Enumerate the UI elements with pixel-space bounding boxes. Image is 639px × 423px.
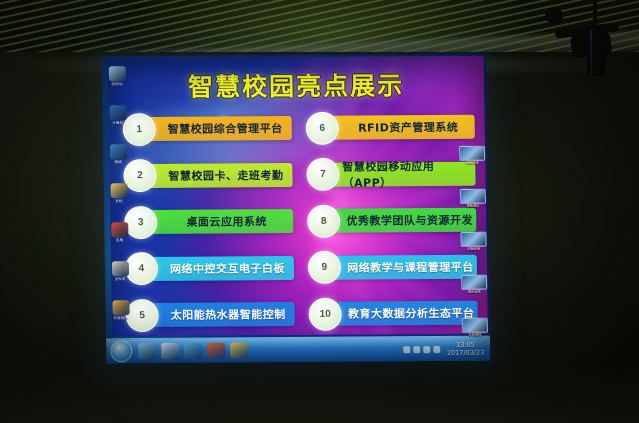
tray-icon[interactable] <box>413 346 420 353</box>
slide-item-row: 5太阳能热水器智能控制 <box>125 299 294 330</box>
tray-popup-4[interactable]: 提示信息 <box>461 275 487 295</box>
slide-item-label: 网络中控交互电子白板 <box>147 256 294 281</box>
slide-item-number: 6 <box>305 111 339 144</box>
slide-item-label: 智慧校园综合管理平台 <box>145 116 292 141</box>
desktop-icon-3-glyph <box>109 144 126 159</box>
slide-item-label: 智慧校园卡、走班考勤 <box>145 163 292 188</box>
slide-item-label: 太阳能热水器智能控制 <box>147 302 294 327</box>
tray-icon[interactable] <box>423 346 430 353</box>
slide-item-row: 10教育大数据分析生态平台 <box>308 298 477 329</box>
desktop-icon-5-label: 应用 <box>109 238 129 242</box>
system-tray[interactable]: 13:05 2017/03/23 <box>403 341 487 358</box>
desktop-icon-7-label: 安装程序 <box>111 316 131 320</box>
windows-taskbar[interactable]: 13:05 2017/03/23 <box>106 336 490 364</box>
tray-popup-3-glyph <box>460 232 486 247</box>
taskbar-chrome-icon[interactable] <box>207 342 225 358</box>
desktop-icon-2-label: 计算机 <box>108 121 128 125</box>
slide-item-label: 网络教学与课程管理平台 <box>330 254 477 279</box>
taskbar-ie-icon[interactable] <box>138 343 156 359</box>
tray-popup-5-label: 系统通知 <box>462 334 488 338</box>
projection-screen: 回收站计算机网络文档应用文件夹安装程序 智慧校园亮点展示 1智慧校园综合管理平台… <box>102 54 491 364</box>
clock-date: 2017/03/23 <box>447 349 485 357</box>
slide-item-row: 6RFID资产管理系统 <box>306 112 475 143</box>
desktop-icon-2-glyph <box>109 105 126 120</box>
slide-item-row: 4网络中控交互电子白板 <box>125 253 294 284</box>
slide-right-column: 6RFID资产管理系统7智慧校园移动应用（APP）8优秀教学团队与资源开发9网络… <box>306 112 478 329</box>
taskbar-folder-icon[interactable] <box>230 342 248 358</box>
slide-item-number: 7 <box>306 158 340 191</box>
tray-popup-2[interactable]: 更新提示 <box>460 189 486 209</box>
slide-left-column: 1智慧校园综合管理平台2智慧校园卡、走班考勤3桌面云应用系统4网络中控交互电子白… <box>122 113 294 330</box>
desktop-icon-5-glyph <box>111 222 128 237</box>
desktop-icon-column: 回收站计算机网络文档应用文件夹安装程序 <box>104 60 134 335</box>
slide-item-columns: 1智慧校园综合管理平台2智慧校园卡、走班考勤3桌面云应用系统4网络中控交互电子白… <box>122 112 477 330</box>
slide-item-label: RFID资产管理系统 <box>328 115 475 140</box>
taskbar-clock[interactable]: 13:05 2017/03/23 <box>447 341 485 357</box>
tray-popup-5[interactable]: 系统通知 <box>462 318 488 338</box>
slide-item-row: 1智慧校园综合管理平台 <box>122 113 291 144</box>
slide-item-number: 8 <box>307 204 341 237</box>
slide-item-row: 2智慧校园卡、走班考勤 <box>123 160 292 191</box>
desktop-icon-4-glyph <box>110 183 127 198</box>
tray-popup-2-label: 更新提示 <box>460 205 486 209</box>
slide-item-row: 3桌面云应用系统 <box>124 206 293 237</box>
slide-item-label: 智慧校园移动应用（APP） <box>328 161 475 186</box>
slide-item-row: 9网络教学与课程管理平台 <box>308 251 477 282</box>
tray-popup-4-label: 提示信息 <box>461 291 487 295</box>
tray-icon[interactable] <box>403 346 410 353</box>
desktop-icon-4[interactable]: 文档 <box>109 183 129 203</box>
powerpoint-slide: 智慧校园亮点展示 1智慧校园综合管理平台2智慧校园卡、走班考勤3桌面云应用系统4… <box>108 56 488 337</box>
start-button-icon[interactable] <box>110 340 132 362</box>
tray-volume-icon[interactable] <box>433 345 440 352</box>
room-scene: 回收站计算机网络文档应用文件夹安装程序 智慧校园亮点展示 1智慧校园综合管理平台… <box>0 0 639 423</box>
clock-time: 13:05 <box>447 341 485 349</box>
tray-popup-1-glyph <box>459 146 485 161</box>
desktop-icon-7-glyph <box>112 300 129 315</box>
tray-popup-2-glyph <box>460 189 486 204</box>
desktop-icon-1[interactable]: 回收站 <box>107 66 127 86</box>
slide-item-number: 9 <box>308 251 342 284</box>
desktop-icon-1-label: 回收站 <box>107 82 127 86</box>
floor-area <box>0 363 639 423</box>
taskbar-media-icon[interactable] <box>161 343 179 359</box>
desktop-icon-6[interactable]: 文件夹 <box>110 261 130 281</box>
desktop-icon-4-label: 文档 <box>109 199 129 203</box>
desktop-icon-6-glyph <box>111 261 128 276</box>
slide-item-label: 桌面云应用系统 <box>146 209 293 234</box>
desktop-icon-3[interactable]: 网络 <box>108 144 128 164</box>
tray-popup-4-glyph <box>461 275 487 290</box>
slide-title: 智慧校园亮点展示 <box>108 66 485 105</box>
mount-cable <box>590 30 592 76</box>
desktop-icon-3-label: 网络 <box>108 160 128 164</box>
desktop-icon-7[interactable]: 安装程序 <box>110 300 130 320</box>
taskbar-explorer-icon[interactable] <box>184 343 202 359</box>
slide-item-label: 优秀教学团队与资源开发 <box>329 208 476 233</box>
slide-item-row: 7智慧校园移动应用（APP） <box>306 158 475 189</box>
mount-bracket <box>545 8 563 24</box>
slide-item-number: 10 <box>308 297 342 330</box>
tray-popup-3-label: 设备就绪 <box>461 248 487 252</box>
tray-popup-5-glyph <box>462 318 488 333</box>
slide-item-label: 教育大数据分析生态平台 <box>330 301 477 326</box>
projector-mount-icon <box>545 0 625 88</box>
desktop-icon-5[interactable]: 应用 <box>109 222 129 242</box>
desktop-icon-2[interactable]: 计算机 <box>107 105 127 125</box>
tray-popup-1-label: 网络连接 <box>459 162 485 166</box>
tray-popup-3[interactable]: 设备就绪 <box>460 232 486 252</box>
desktop-icon-6-label: 文件夹 <box>110 277 130 281</box>
taskbar-button-group <box>138 342 253 359</box>
tray-popup-1[interactable]: 网络连接 <box>459 146 485 166</box>
desktop-icon-1-glyph <box>108 66 125 81</box>
slide-item-row: 8优秀教学团队与资源开发 <box>307 205 476 236</box>
